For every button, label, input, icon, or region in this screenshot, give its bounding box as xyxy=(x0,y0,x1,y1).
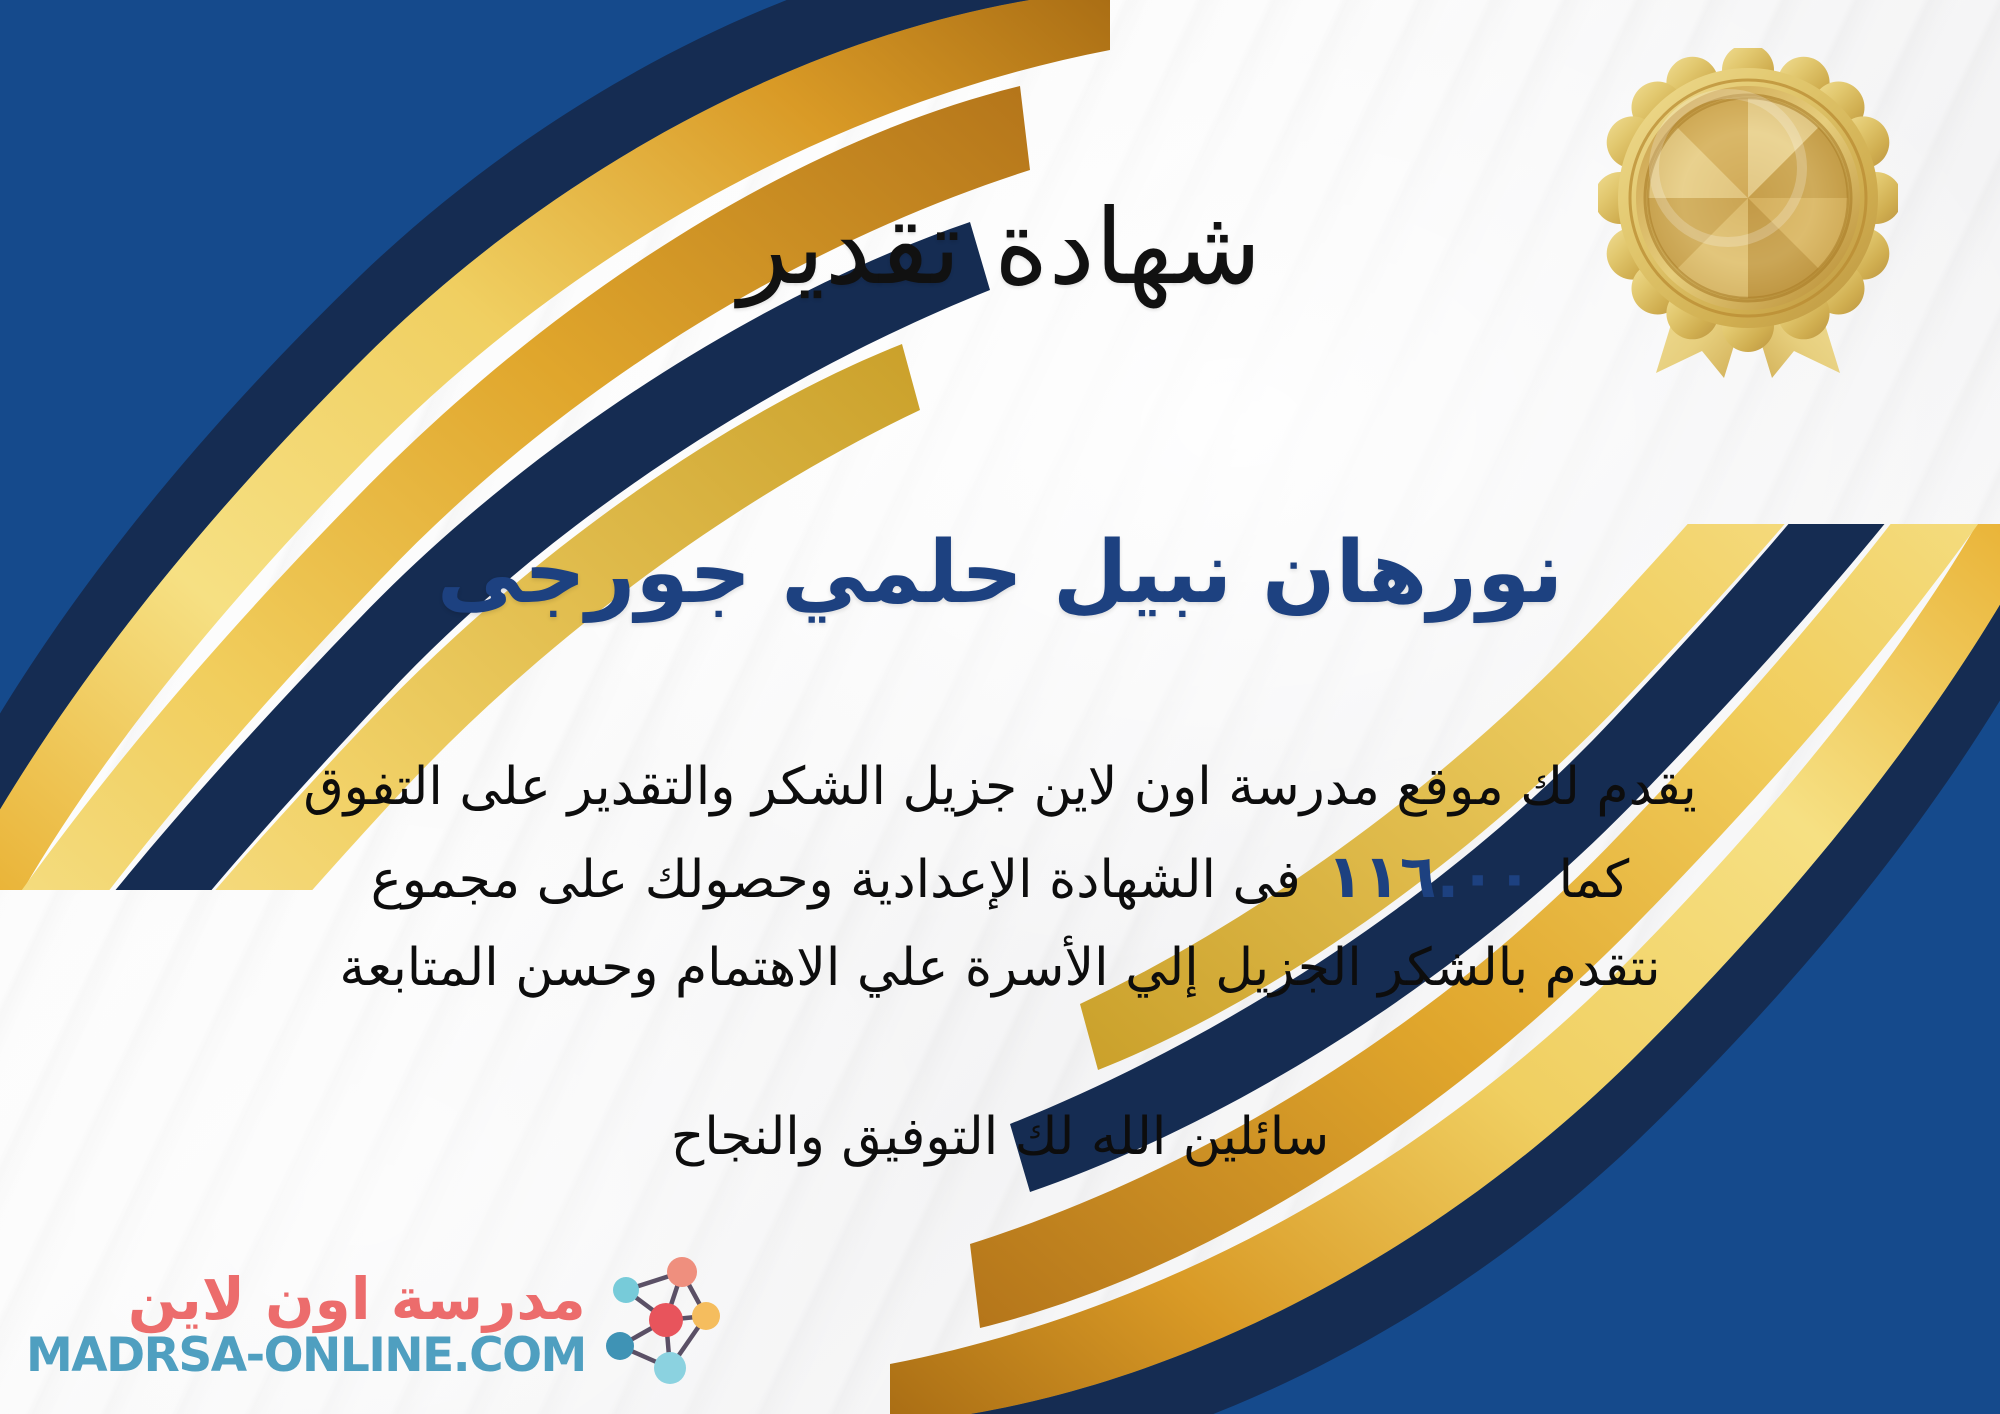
site-logo[interactable]: مدرسة اون لاين MADRSA-ONLINE.COM xyxy=(26,1254,724,1394)
logo-domain-text: MADRSA-ONLINE.COM xyxy=(26,1332,586,1379)
body-line-1: يقدم لك موقع مدرسة اون لاين جزيل الشكر و… xyxy=(90,745,1910,829)
closing-line: سائلين الله لك التوفيق والنجاح xyxy=(0,1098,2000,1176)
student-name: نورهان نبيل حلمي جورجى xyxy=(0,522,2000,625)
network-nodes-icon xyxy=(596,1254,724,1394)
body-line-3: نتقدم بالشكر الجزيل إلي الأسرة علي الاهت… xyxy=(90,926,1910,1010)
page-title: شهادة تقدير xyxy=(0,188,2000,308)
certificate-body: يقدم لك موقع مدرسة اون لاين جزيل الشكر و… xyxy=(90,745,1910,1011)
body-line-2: كما١١٦.٠٠فى الشهادة الإعدادية وحصولك على… xyxy=(90,829,1910,926)
grade-value: ١١٦.٠٠ xyxy=(1301,829,1559,926)
certificate-canvas: شهادة تقدير نورهان نبيل حلمي جورجى يقدم … xyxy=(0,0,2000,1414)
logo-arabic-text: مدرسة اون لاين xyxy=(128,1270,586,1328)
body-line-2-before: فى الشهادة الإعدادية وحصولك على مجموع xyxy=(371,850,1301,910)
body-line-2-after: كما xyxy=(1559,850,1630,910)
